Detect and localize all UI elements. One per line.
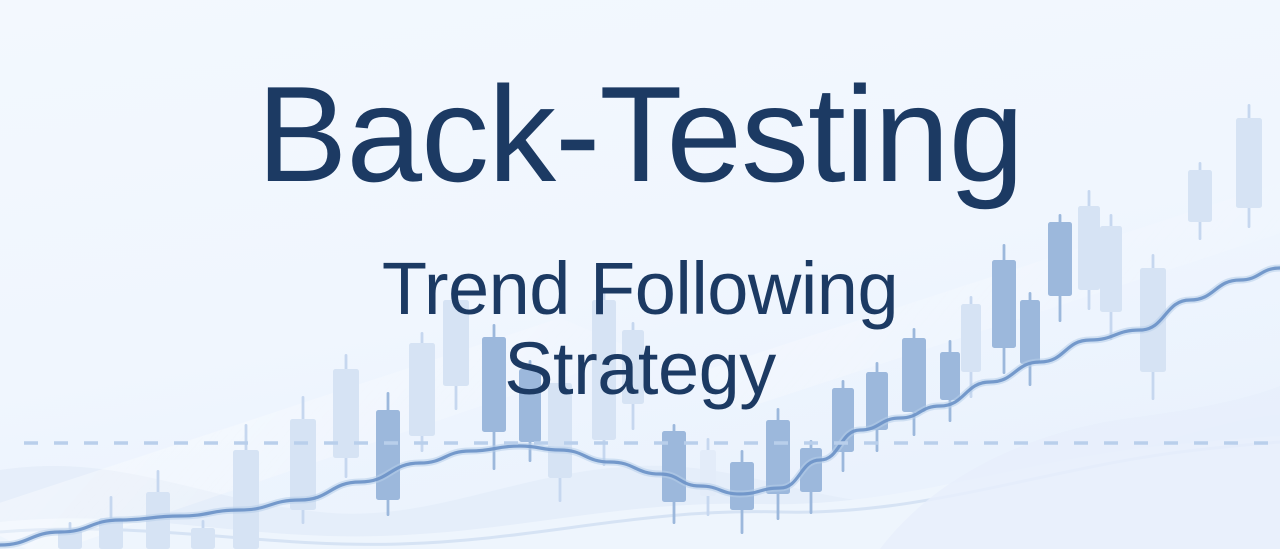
candle-body [233, 450, 259, 549]
candle-body [1236, 118, 1262, 208]
candle-body [548, 383, 572, 478]
candle-body [730, 462, 754, 510]
candle-body [482, 337, 506, 432]
candle-body [940, 352, 960, 400]
candle-body [592, 300, 616, 440]
candle-body [992, 260, 1016, 348]
candle-body [1078, 206, 1100, 290]
candle-body [961, 304, 981, 372]
candle-body [376, 410, 400, 500]
candle-body [1048, 222, 1072, 296]
candle-body [443, 300, 469, 386]
candle-body [902, 338, 926, 412]
candle-body [1100, 226, 1122, 312]
candle-body [1188, 170, 1212, 222]
candle-body [191, 528, 215, 549]
candlestick-chart-background [0, 0, 1280, 549]
hero-banner: Back-Testing Trend Following Strategy [0, 0, 1280, 549]
candle-body [409, 343, 435, 436]
candle-body [766, 420, 790, 494]
candle-body [622, 330, 644, 404]
candle-body [1020, 300, 1040, 364]
candle-body [519, 369, 541, 442]
